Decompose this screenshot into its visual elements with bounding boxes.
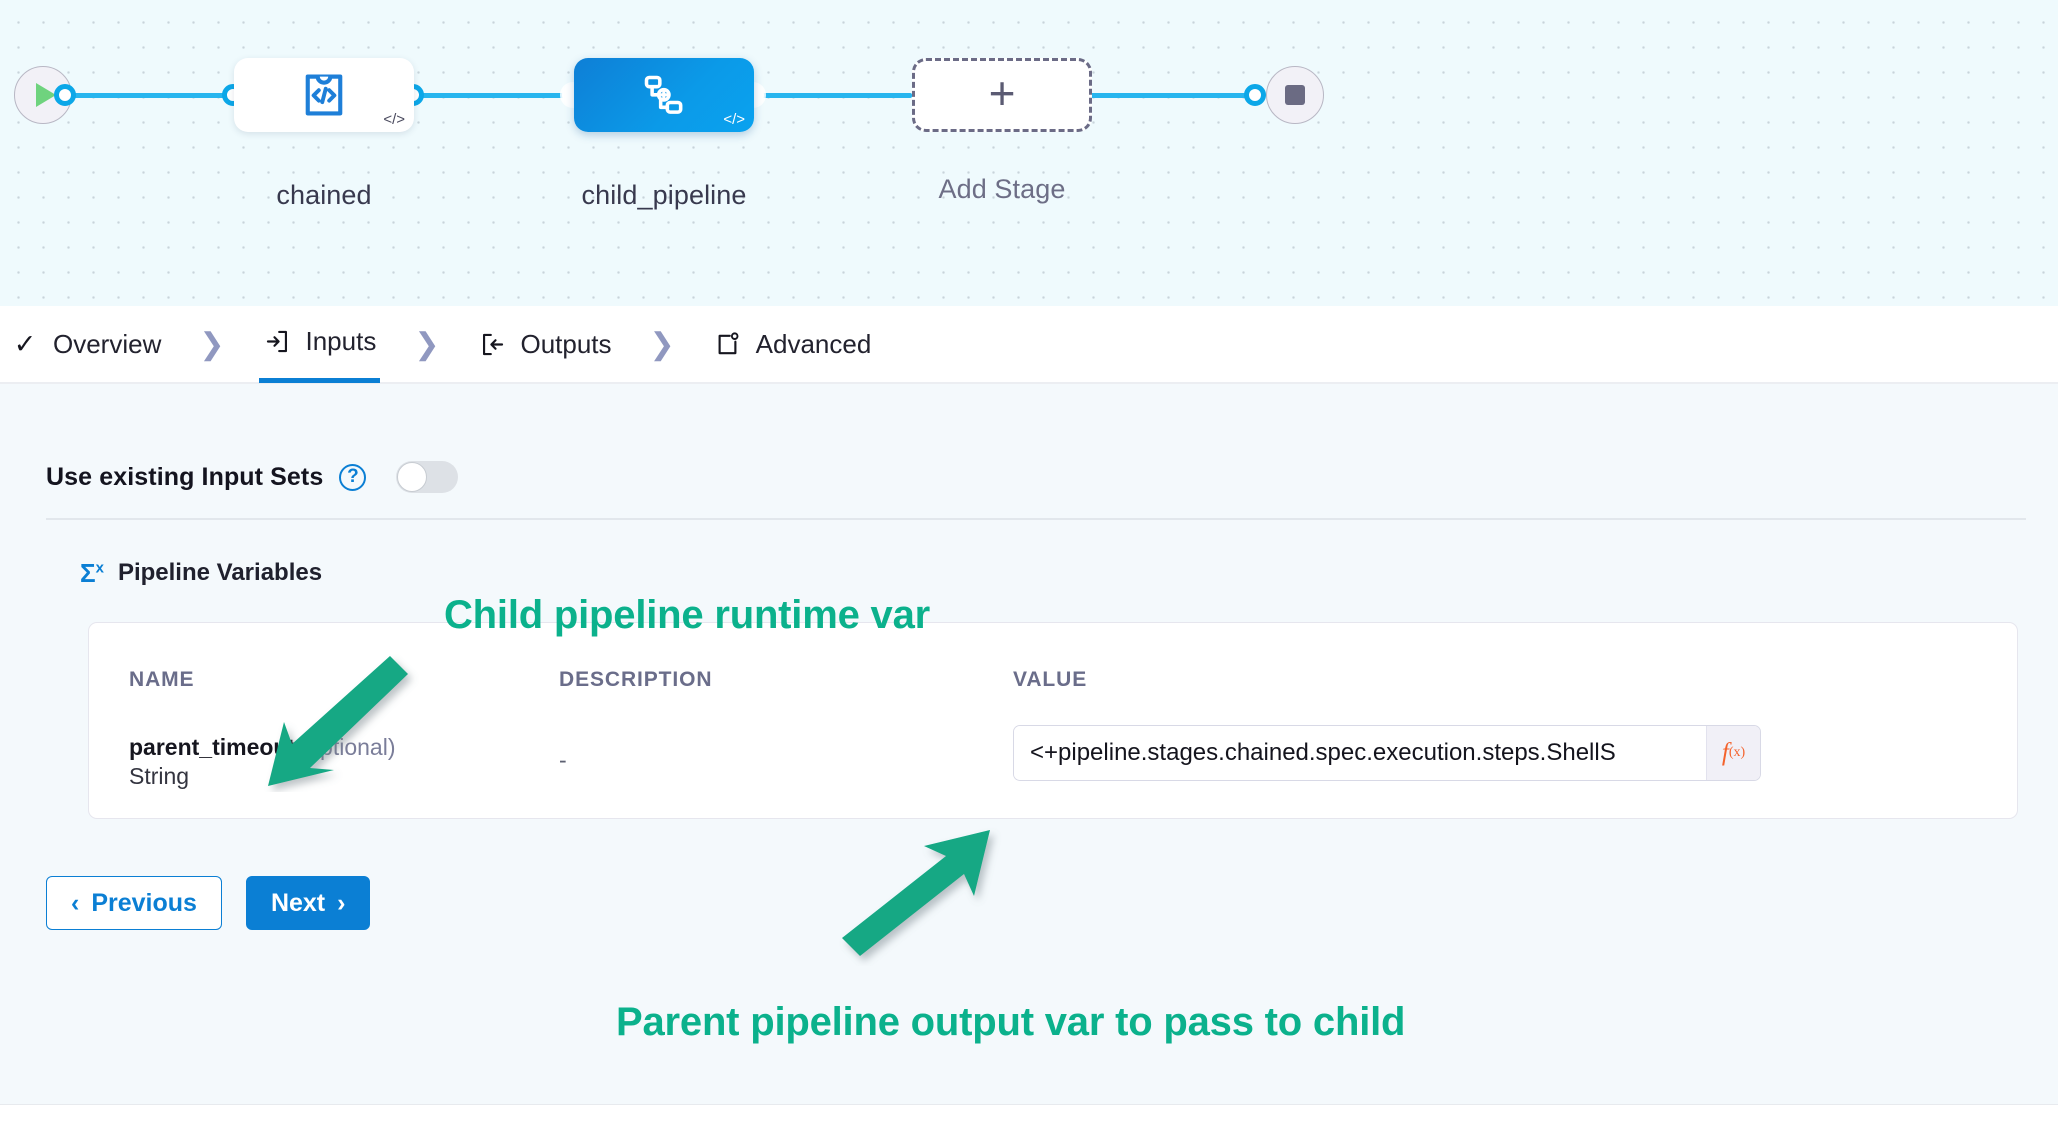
question-mark-icon[interactable]: ?	[339, 464, 366, 491]
tab-inputs[interactable]: Inputs	[259, 305, 381, 383]
variable-optional-tag: (optional)	[300, 734, 396, 760]
stage-label-chained: chained	[164, 180, 484, 211]
tab-inputs-label: Inputs	[306, 326, 377, 357]
next-button[interactable]: Next ›	[246, 876, 371, 930]
toggle-knob	[397, 462, 427, 492]
child-pipeline-code-badge-icon: </>	[723, 112, 745, 127]
pipeline-variables-table: NAME DESCRIPTION VALUE parent_timeout (o…	[88, 622, 2018, 819]
page-bottom-strip	[0, 1104, 2058, 1121]
inputs-arrow-in-icon	[263, 327, 293, 357]
tab-separator-1: ❯	[165, 327, 258, 362]
sigma-x-icon: Σx	[80, 560, 104, 586]
pipeline-stage-icon	[639, 70, 689, 120]
expression-fx-button[interactable]: f(x)	[1706, 726, 1760, 780]
pipeline-canvas[interactable]: </> </> + chained child_pipeline	[0, 0, 2058, 306]
app-root: </> </> + chained child_pipeline	[0, 0, 2058, 1120]
edge-addstage-to-end	[1090, 93, 1265, 98]
chevron-right-icon: ›	[337, 889, 345, 918]
tab-advanced-label: Advanced	[756, 329, 872, 360]
tab-advanced[interactable]: Advanced	[709, 305, 876, 383]
tab-overview[interactable]: ✓ Overview	[6, 305, 165, 383]
annotation-parent-output-var: Parent pipeline output var to pass to ch…	[616, 1000, 1405, 1045]
section-divider	[46, 518, 2026, 520]
tab-separator-3: ❯	[616, 327, 709, 362]
stage-label-child-pipeline: child_pipeline	[504, 180, 824, 211]
variable-type: String	[129, 762, 395, 791]
variable-value-field[interactable]: f(x)	[1013, 725, 1761, 781]
check-icon: ✓	[10, 329, 40, 359]
pipeline-variables-heading: Σx Pipeline Variables	[80, 559, 322, 587]
outputs-arrow-out-icon	[477, 329, 507, 359]
annotation-child-runtime-var: Child pipeline runtime var	[444, 593, 930, 638]
advanced-gear-card-icon	[713, 329, 743, 359]
stop-icon	[1285, 85, 1305, 105]
previous-button-label: Previous	[91, 889, 197, 918]
pipeline-variables-label: Pipeline Variables	[118, 559, 322, 587]
column-header-description: DESCRIPTION	[559, 668, 712, 692]
use-existing-input-sets-label: Use existing Input Sets	[46, 463, 323, 492]
variable-description: -	[559, 747, 567, 774]
add-stage-label: Add Stage	[842, 174, 1162, 205]
variable-name: parent_timeout	[129, 734, 295, 760]
step-tab-bar: ✓ Overview ❯ Inputs ❯ Outputs ❯	[0, 306, 2058, 384]
chevron-left-icon: ‹	[71, 889, 79, 918]
edge-child-to-addstage	[752, 93, 912, 98]
tab-outputs[interactable]: Outputs	[473, 305, 615, 383]
add-stage-node[interactable]: +	[912, 58, 1092, 132]
use-existing-input-sets-row: Use existing Input Sets ?	[46, 461, 458, 493]
tab-overview-label: Overview	[53, 329, 161, 360]
custom-stage-code-icon	[298, 69, 350, 121]
use-existing-input-sets-toggle[interactable]	[396, 461, 458, 493]
wizard-footer: ‹ Previous Next ›	[46, 876, 370, 930]
previous-button[interactable]: ‹ Previous	[46, 876, 222, 930]
plus-icon: +	[989, 70, 1016, 116]
play-icon	[36, 83, 56, 107]
tab-outputs-label: Outputs	[520, 329, 611, 360]
pipeline-end-node[interactable]	[1266, 66, 1324, 124]
edge-chained-to-child	[412, 93, 572, 98]
column-header-name: NAME	[129, 668, 194, 692]
tab-separator-2: ❯	[380, 327, 473, 362]
variable-value-input[interactable]	[1014, 726, 1706, 780]
stage-node-chained[interactable]: </>	[234, 58, 414, 132]
column-header-value: VALUE	[1013, 668, 1087, 692]
next-button-label: Next	[271, 889, 325, 918]
table-row: parent_timeout (optional) String	[129, 733, 395, 792]
stage-node-child-pipeline[interactable]: </>	[574, 58, 754, 132]
end-input-port[interactable]	[1244, 84, 1266, 106]
start-output-port[interactable]	[54, 84, 76, 106]
chained-code-badge-icon: </>	[383, 112, 405, 127]
